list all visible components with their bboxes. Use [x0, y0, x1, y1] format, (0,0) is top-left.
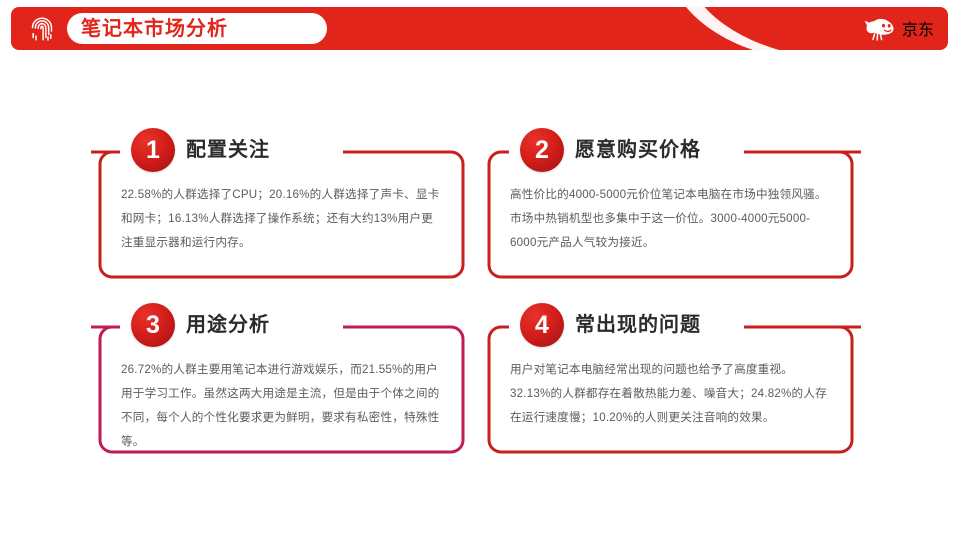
header-bar: 笔记本市场分析 京东 [11, 7, 948, 50]
card-title: 用途分析 [186, 307, 270, 343]
card-body-text: 用户对笔记本电脑经常出现的问题也给予了高度重视。32.13%的人群都存在着散热能… [510, 358, 832, 430]
card-title: 愿意购买价格 [575, 132, 701, 168]
card-body-text: 26.72%的人群主要用笔记本进行游戏娱乐，而21.55%的用户用于学习工作。虽… [121, 358, 443, 454]
card-number-badge: 2 [520, 128, 564, 172]
brand-name: 京东 [902, 16, 934, 40]
card-title: 配置关注 [186, 132, 270, 168]
brand-logo: 京东 [864, 13, 934, 43]
fingerprint-icon [28, 15, 56, 43]
card-number-badge: 3 [131, 303, 175, 347]
card-willing-purchase-price: 2 愿意购买价格 高性价比的4000-5000元价位笔记本电脑在市场中独领风骚。… [489, 152, 852, 277]
card-common-problems: 4 常出现的问题 用户对笔记本电脑经常出现的问题也给予了高度重视。32.13%的… [489, 327, 852, 452]
card-number-badge: 4 [520, 303, 564, 347]
jd-dog-icon [864, 15, 898, 41]
card-configuration-focus: 1 配置关注 22.58%的人群选择了CPU；20.16%的人群选择了声卡、显卡… [100, 152, 463, 277]
card-usage-analysis: 3 用途分析 26.72%的人群主要用笔记本进行游戏娱乐，而21.55%的用户用… [100, 327, 463, 452]
page-title: 笔记本市场分析 [81, 17, 321, 41]
card-body-text: 22.58%的人群选择了CPU；20.16%的人群选择了声卡、显卡和网卡；16.… [121, 183, 443, 255]
card-number-badge: 1 [131, 128, 175, 172]
card-title: 常出现的问题 [575, 307, 701, 343]
card-body-text: 高性价比的4000-5000元价位笔记本电脑在市场中独领风骚。市场中热销机型也多… [510, 183, 832, 255]
